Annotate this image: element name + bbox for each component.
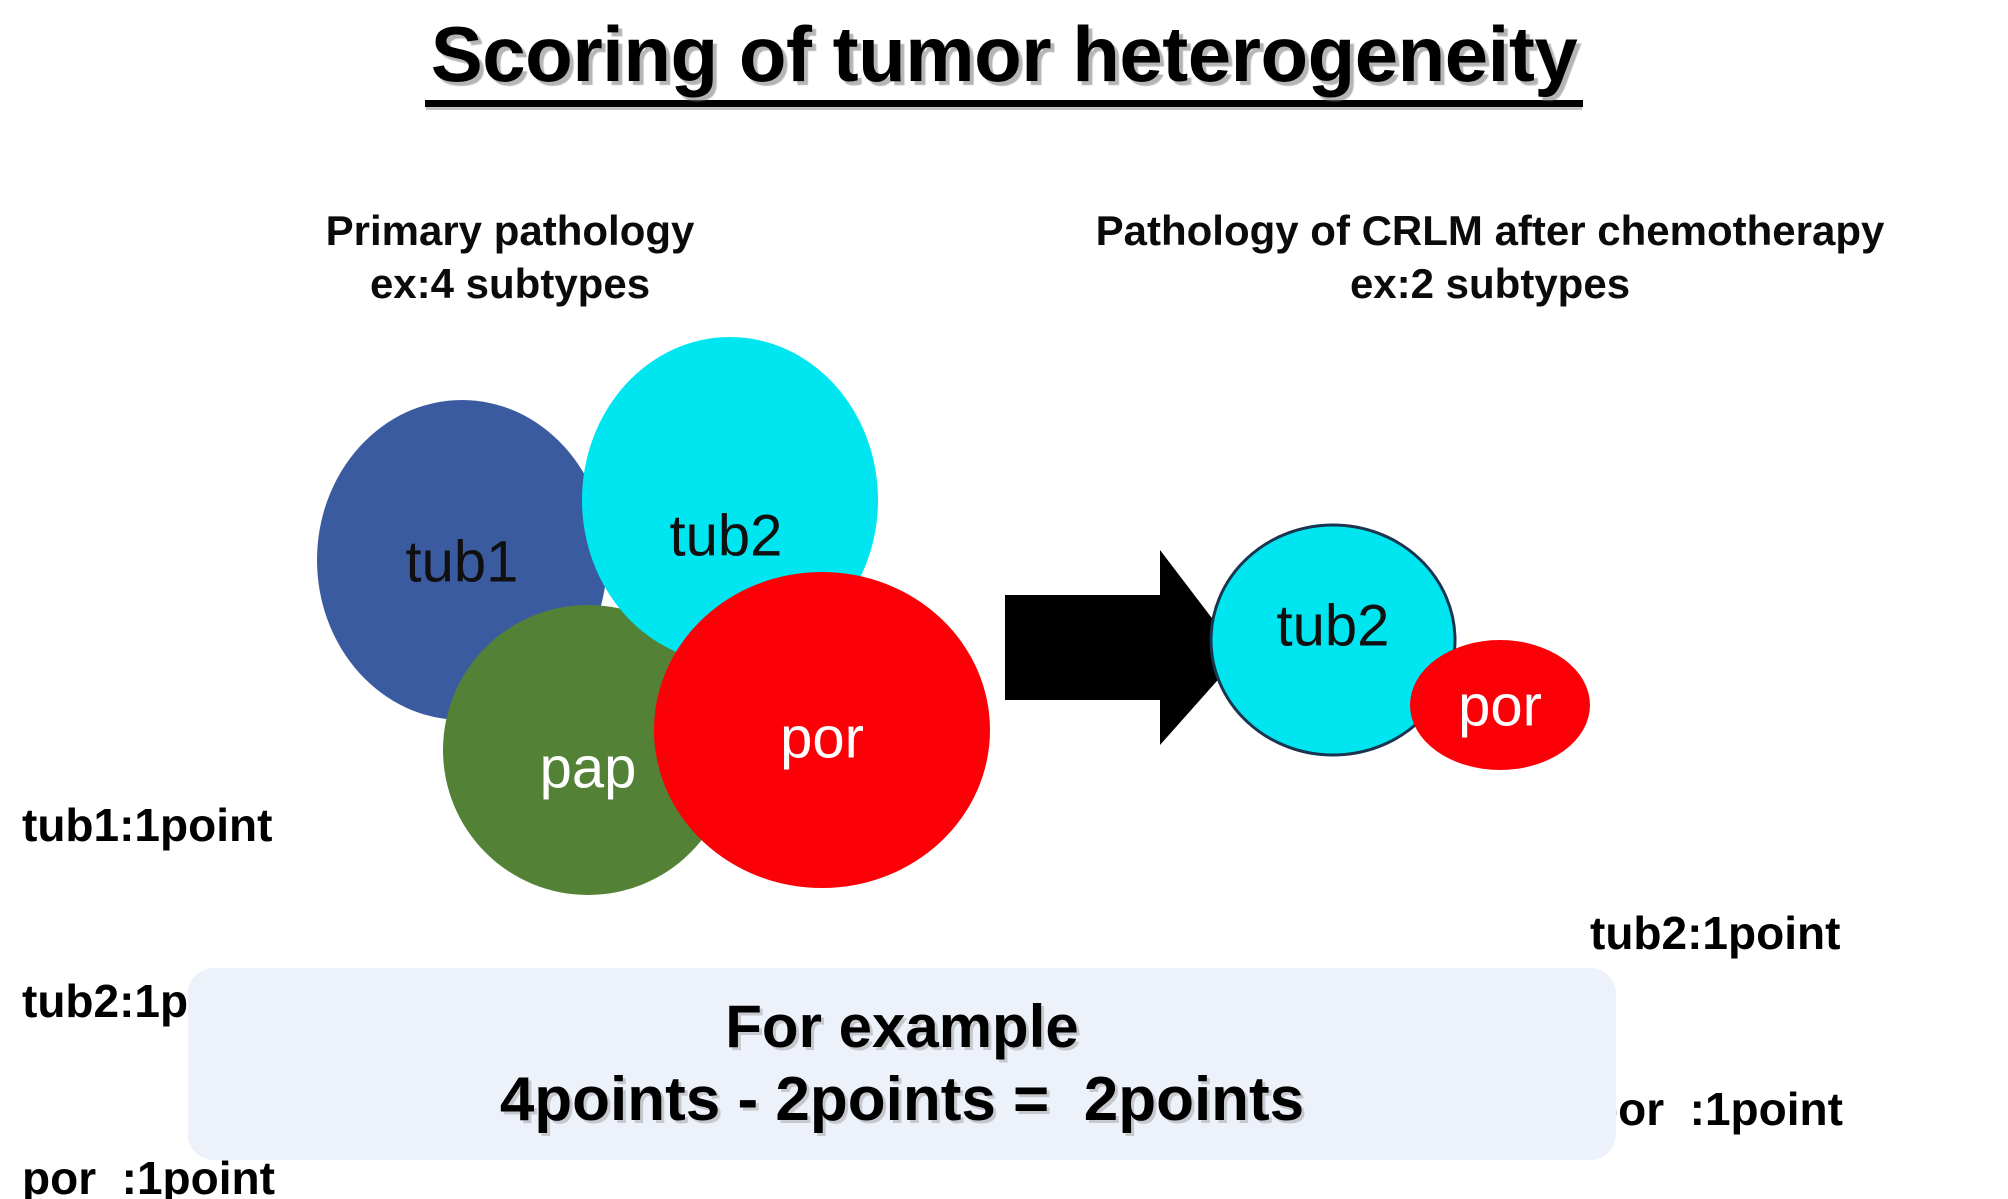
blob-por-crlm[interactable]: por — [1410, 640, 1590, 770]
legend-crlm-points: tub2:1point por :1point — [1590, 786, 1843, 1199]
example-equation: 4points - 2points = 2points — [500, 1066, 1304, 1134]
primary-pathology-header-line1: Primary pathology — [250, 205, 770, 258]
crlm-pathology-header: Pathology of CRLM after chemotherapy ex:… — [975, 205, 2005, 311]
blob-tub1-label: tub1 — [406, 529, 519, 594]
block-arrow-right-shape — [1005, 550, 1240, 745]
crlm-cluster: tub2 por — [1211, 525, 1590, 770]
blob-por-crlm-label: por — [1458, 673, 1542, 738]
primary-cluster: tub1 pap tub2 por — [317, 337, 990, 895]
legend-crlm-line-2: por :1point — [1590, 1080, 1843, 1139]
page-title: Scoring of tumor heterogeneity — [425, 14, 1583, 107]
blob-tub2-label: tub2 — [670, 503, 783, 568]
blob-pap-label: pap — [540, 735, 637, 800]
primary-pathology-header: Primary pathology ex:4 subtypes — [250, 205, 770, 311]
title-container: Scoring of tumor heterogeneity — [0, 14, 2008, 107]
primary-pathology-header-line2: ex:4 subtypes — [250, 258, 770, 311]
blob-por-label: por — [780, 705, 864, 770]
legend-primary-line-1: tub1:1point — [22, 796, 283, 855]
blob-por[interactable]: por — [654, 572, 990, 888]
example-callout-box: For example 4points - 2points = 2points — [188, 968, 1616, 1160]
blob-tub2-crlm-label: tub2 — [1277, 593, 1390, 658]
block-arrow-right-icon — [1005, 550, 1240, 745]
crlm-pathology-header-line1: Pathology of CRLM after chemotherapy — [975, 205, 2005, 258]
crlm-pathology-header-line2: ex:2 subtypes — [975, 258, 2005, 311]
slide-canvas: Scoring of tumor heterogeneity Primary p… — [0, 0, 2008, 1199]
example-heading: For example — [725, 994, 1078, 1060]
legend-crlm-line-1: tub2:1point — [1590, 904, 1843, 963]
